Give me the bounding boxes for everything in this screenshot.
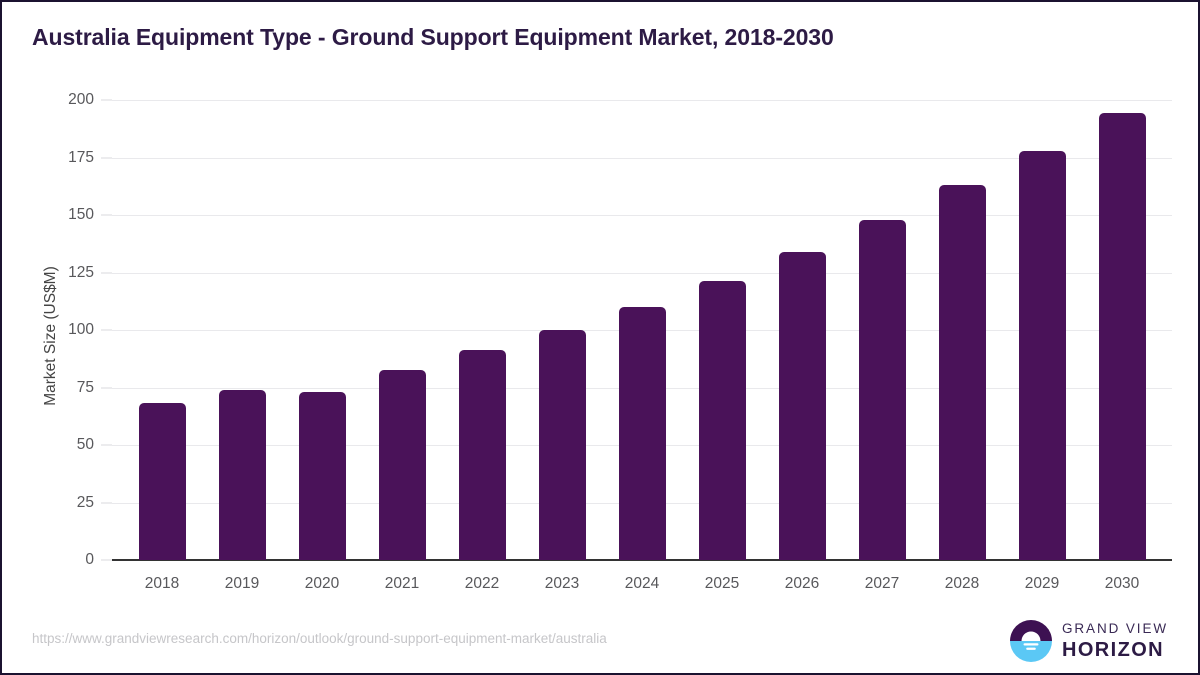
y-tick-mark xyxy=(101,445,112,446)
x-tick-label-2022: 2022 xyxy=(442,570,522,600)
bar-slot xyxy=(762,90,842,560)
x-tick-label-2029: 2029 xyxy=(1002,570,1082,600)
y-tick-mark xyxy=(101,272,112,273)
brand-text: GRAND VIEW HORIZON xyxy=(1062,622,1168,660)
y-tick-mark xyxy=(101,215,112,216)
y-tick-mark xyxy=(101,502,112,503)
plot-area: 0255075100125150175200 xyxy=(112,90,1172,570)
x-tick-label-2019: 2019 xyxy=(202,570,282,600)
y-tick-label: 175 xyxy=(34,149,94,167)
sun-over-water-circle-icon xyxy=(1009,619,1053,663)
bar-2025[interactable] xyxy=(699,281,746,560)
x-axis-ticks: 2018201920202021202220232024202520262027… xyxy=(112,570,1172,600)
bar-slot xyxy=(1002,90,1082,560)
bar-slot xyxy=(602,90,682,560)
x-tick-label-2027: 2027 xyxy=(842,570,922,600)
bar-2028[interactable] xyxy=(939,185,986,560)
x-tick-label-2023: 2023 xyxy=(522,570,602,600)
y-tick-label: 50 xyxy=(34,436,94,454)
brand-name-primary: GRAND VIEW xyxy=(1062,622,1168,636)
y-tick-label: 150 xyxy=(34,206,94,224)
x-tick-label-2026: 2026 xyxy=(762,570,842,600)
bar-2021[interactable] xyxy=(379,370,426,560)
bar-2019[interactable] xyxy=(219,390,266,560)
source-url[interactable]: https://www.grandviewresearch.com/horizo… xyxy=(32,631,607,646)
y-tick-mark xyxy=(101,157,112,158)
x-tick-label-2030: 2030 xyxy=(1082,570,1162,600)
bar-2018[interactable] xyxy=(139,403,186,560)
y-tick-mark xyxy=(101,330,112,331)
y-tick-label: 100 xyxy=(34,321,94,339)
x-tick-label-2028: 2028 xyxy=(922,570,1002,600)
bar-2020[interactable] xyxy=(299,392,346,560)
bar-slot xyxy=(842,90,922,560)
x-tick-label-2018: 2018 xyxy=(122,570,202,600)
bar-2027[interactable] xyxy=(859,220,906,560)
x-tick-label-2020: 2020 xyxy=(282,570,362,600)
y-tick-label: 25 xyxy=(34,494,94,512)
x-tick-label-2024: 2024 xyxy=(602,570,682,600)
y-tick-mark xyxy=(101,387,112,388)
bar-2024[interactable] xyxy=(619,307,666,560)
bar-2030[interactable] xyxy=(1099,113,1146,560)
page-title: Australia Equipment Type - Ground Suppor… xyxy=(32,24,834,51)
bar-2029[interactable] xyxy=(1019,151,1066,560)
bar-slot xyxy=(442,90,522,560)
brand-name-secondary: HORIZON xyxy=(1062,640,1168,660)
y-tick-label: 125 xyxy=(34,264,94,282)
y-tick-mark xyxy=(101,100,112,101)
bar-slot xyxy=(682,90,762,560)
x-tick-label-2021: 2021 xyxy=(362,570,442,600)
bar-slot xyxy=(202,90,282,560)
bar-slot xyxy=(282,90,362,560)
bar-2026[interactable] xyxy=(779,252,826,560)
y-tick-label: 75 xyxy=(34,379,94,397)
bar-slot xyxy=(1082,90,1162,560)
bar-slot xyxy=(922,90,1002,560)
bar-slot xyxy=(522,90,602,560)
bar-2023[interactable] xyxy=(539,330,586,560)
bar-slot xyxy=(362,90,442,560)
brand-logo: GRAND VIEW HORIZON xyxy=(1009,618,1168,664)
y-tick-label: 200 xyxy=(34,91,94,109)
bar-slot xyxy=(122,90,202,560)
bar-2022[interactable] xyxy=(459,350,506,560)
x-tick-label-2025: 2025 xyxy=(682,570,762,600)
bar-series xyxy=(112,90,1172,570)
y-tick-label: 0 xyxy=(34,551,94,569)
chart-page: Australia Equipment Type - Ground Suppor… xyxy=(0,0,1200,675)
y-tick-mark xyxy=(101,560,112,561)
